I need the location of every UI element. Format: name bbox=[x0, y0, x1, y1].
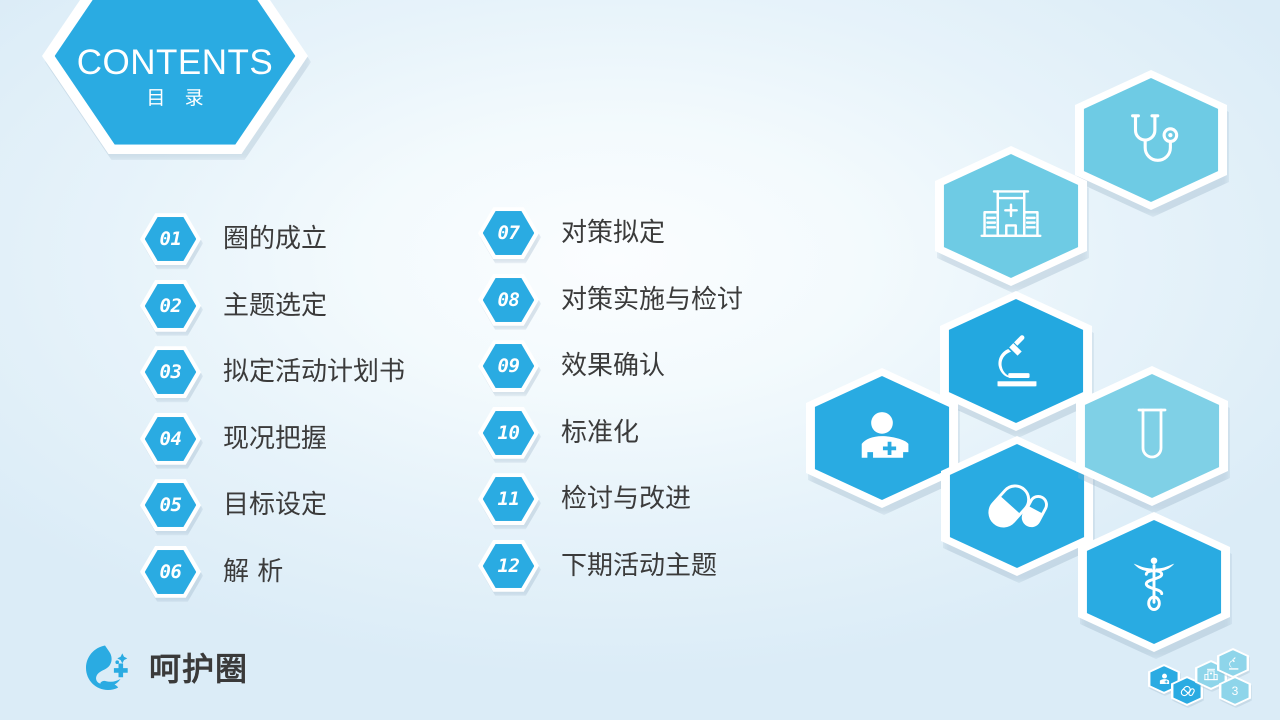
hexagon-doctor[interactable] bbox=[806, 368, 958, 508]
contents-item-09[interactable]: 09效果确认 bbox=[478, 333, 743, 400]
page-number: 3 bbox=[1219, 676, 1251, 706]
item-number-hexagon: 11 bbox=[478, 473, 539, 525]
hexagon-test-tube[interactable] bbox=[1076, 366, 1228, 506]
microscope-icon bbox=[1217, 648, 1249, 678]
item-number: 04 bbox=[140, 413, 201, 465]
item-label: 目标设定 bbox=[223, 492, 327, 518]
item-number-hexagon: 09 bbox=[478, 340, 539, 392]
item-number-hexagon: 01 bbox=[140, 213, 201, 265]
hospital-building-icon bbox=[935, 146, 1087, 286]
item-label: 对策拟定 bbox=[561, 220, 665, 246]
item-label: 检讨与改进 bbox=[561, 486, 691, 512]
header-text-group: CONTENTS 目 录 bbox=[42, 0, 308, 154]
item-number: 02 bbox=[140, 280, 201, 332]
brand-name: 呵护圈 bbox=[149, 653, 248, 685]
stethoscope-icon bbox=[1075, 70, 1227, 210]
item-label: 效果确认 bbox=[561, 353, 665, 379]
slide-root: CONTENTS 目 录 01圈的成立02主题选定03拟定活动计划书04现况把握… bbox=[0, 0, 1280, 720]
item-number-hexagon: 12 bbox=[478, 540, 539, 592]
contents-item-04[interactable]: 04现况把握 bbox=[140, 406, 405, 473]
care-circle-logo-icon bbox=[82, 641, 138, 697]
contents-item-10[interactable]: 10标准化 bbox=[478, 400, 743, 467]
item-number-hexagon: 04 bbox=[140, 413, 201, 465]
item-label: 解 析 bbox=[223, 559, 283, 585]
test-tube-icon bbox=[1076, 366, 1228, 506]
contents-item-01[interactable]: 01圈的成立 bbox=[140, 206, 405, 273]
item-number: 01 bbox=[140, 213, 201, 265]
hexagon-microscope[interactable] bbox=[940, 291, 1092, 431]
brand-logo[interactable]: 呵护圈 bbox=[82, 641, 248, 697]
hexagon-caduceus[interactable] bbox=[1078, 512, 1230, 652]
item-number: 07 bbox=[478, 207, 539, 259]
item-number-hexagon: 10 bbox=[478, 407, 539, 459]
microscope-icon bbox=[940, 291, 1092, 431]
contents-item-11[interactable]: 11检讨与改进 bbox=[478, 466, 743, 533]
contents-item-08[interactable]: 08对策实施与检讨 bbox=[478, 267, 743, 334]
item-number-hexagon: 06 bbox=[140, 546, 201, 598]
contents-item-03[interactable]: 03拟定活动计划书 bbox=[140, 339, 405, 406]
item-number: 03 bbox=[140, 346, 201, 398]
item-number: 11 bbox=[478, 473, 539, 525]
mini-hexagon-microscope bbox=[1217, 648, 1249, 678]
item-number-hexagon: 05 bbox=[140, 479, 201, 531]
item-label: 圈的成立 bbox=[223, 226, 327, 252]
item-label: 主题选定 bbox=[223, 293, 327, 319]
item-number: 05 bbox=[140, 479, 201, 531]
hexagon-stethoscope[interactable] bbox=[1075, 70, 1227, 210]
contents-item-02[interactable]: 02主题选定 bbox=[140, 273, 405, 340]
contents-header-hexagon: CONTENTS 目 录 bbox=[42, 0, 308, 154]
contents-item-06[interactable]: 06解 析 bbox=[140, 539, 405, 606]
item-number-hexagon: 07 bbox=[478, 207, 539, 259]
doctor-icon bbox=[806, 368, 958, 508]
item-number: 06 bbox=[140, 546, 201, 598]
item-label: 拟定活动计划书 bbox=[223, 359, 405, 385]
pills-capsule-icon bbox=[941, 436, 1093, 576]
contents-item-05[interactable]: 05目标设定 bbox=[140, 472, 405, 539]
page-number-hexagon: 3 bbox=[1219, 676, 1251, 706]
item-number: 08 bbox=[478, 274, 539, 326]
contents-item-07[interactable]: 07对策拟定 bbox=[478, 200, 743, 267]
hexagon-hospital[interactable] bbox=[935, 146, 1087, 286]
item-label: 标准化 bbox=[561, 420, 639, 446]
hexagon-pills[interactable] bbox=[941, 436, 1093, 576]
item-number: 09 bbox=[478, 340, 539, 392]
contents-item-12[interactable]: 12下期活动主题 bbox=[478, 533, 743, 600]
item-label: 下期活动主题 bbox=[561, 553, 717, 579]
contents-right-column: 07对策拟定08对策实施与检讨09效果确认10标准化11检讨与改进12下期活动主… bbox=[478, 200, 743, 599]
caduceus-icon bbox=[1078, 512, 1230, 652]
item-number-hexagon: 03 bbox=[140, 346, 201, 398]
item-label: 对策实施与检讨 bbox=[561, 287, 743, 313]
item-number: 10 bbox=[478, 407, 539, 459]
item-number-hexagon: 08 bbox=[478, 274, 539, 326]
contents-left-column: 01圈的成立02主题选定03拟定活动计划书04现况把握05目标设定06解 析 bbox=[140, 206, 405, 605]
page-title-en: CONTENTS bbox=[77, 45, 274, 80]
page-title-cn: 目 录 bbox=[139, 89, 210, 108]
item-label: 现况把握 bbox=[223, 426, 327, 452]
item-number-hexagon: 02 bbox=[140, 280, 201, 332]
item-number: 12 bbox=[478, 540, 539, 592]
